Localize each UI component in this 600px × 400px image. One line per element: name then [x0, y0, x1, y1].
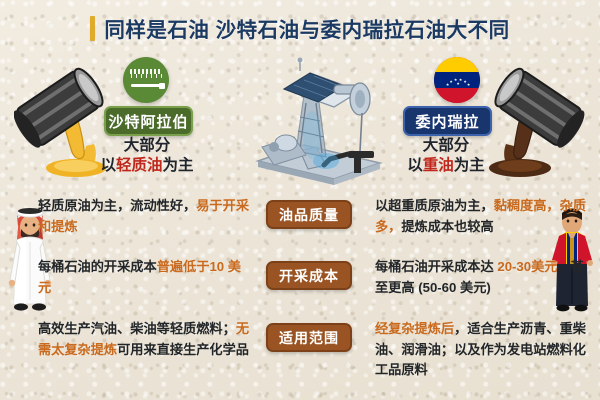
- highlighted-phrase: 普遍低于: [157, 259, 210, 274]
- row-text-left-extraction-cost: 每桶石油的开采成本普遍低于10 美元: [38, 257, 250, 298]
- page-title: 同样是石油 沙特石油与委内瑞拉石油大不同: [0, 8, 600, 48]
- country-label-venezuela[interactable]: 委内瑞拉: [403, 106, 492, 136]
- highlighted-phrase: 20-30: [497, 259, 531, 274]
- category-badge-oil-quality[interactable]: 油品质量: [266, 200, 352, 229]
- category-badge-extraction-cost[interactable]: 开采成本: [266, 261, 352, 290]
- headline-line-1: 大部分: [72, 136, 222, 156]
- highlighted-phrase: 美元: [531, 259, 557, 274]
- oil-pumpjack-icon: [248, 55, 388, 185]
- row-text-right-applications: 经复杂提炼后，适合生产沥青、重柴油、润滑油；以及作为发电站燃料化工品原料: [375, 319, 587, 381]
- plain-phrase: 可用来直接生产化学品: [117, 342, 249, 357]
- country-label-saudi-arabia[interactable]: 沙特阿拉伯: [104, 106, 193, 136]
- headline-venezuela: 大部分 以重油为主: [371, 136, 521, 176]
- infographic-canvas: 同样是石油 沙特石油与委内瑞拉石油大不同: [0, 0, 600, 400]
- flag-band-blue: [434, 72, 480, 87]
- highlighted-phrase: 黏稠度高，: [494, 198, 560, 213]
- headline-line-1: 大部分: [371, 136, 521, 156]
- plain-phrase: 每桶石油开采成本达: [375, 259, 497, 274]
- row-text-left-oil-quality: 轻质原油为主，流动性好，易于开采和提炼: [38, 196, 250, 237]
- row-text-right-extraction-cost: 每桶石油开采成本达 20-30美元，甚至更高 (50-60 美元): [375, 257, 587, 298]
- plain-phrase: 高效生产汽油、柴油等轻质燃料；: [38, 321, 236, 336]
- plain-phrase: 以超重质原油为主，: [375, 198, 494, 213]
- highlighted-phrase: 易于开: [196, 198, 236, 213]
- title-accent-bar: [90, 16, 95, 41]
- sword-emblem: [131, 84, 161, 87]
- plain-phrase: 提炼成本也较高: [401, 219, 493, 234]
- venezuela-flag-icon: [434, 57, 480, 103]
- row-text-left-applications: 高效生产汽油、柴油等轻质燃料；无需太复杂提炼可用来直接生产化学品: [38, 319, 250, 360]
- plain-phrase: 每桶石油的开采成本: [38, 259, 157, 274]
- shahada-script: [130, 69, 162, 78]
- headline-line-2: 以轻质油为主: [72, 156, 222, 176]
- title-text: 同样是石油 沙特石油与委内瑞拉石油大不同: [104, 13, 509, 43]
- highlighted-phrase: 经复杂提炼后: [375, 321, 454, 336]
- headline-line-2: 以重油为主: [371, 156, 521, 176]
- flag-band-yellow: [434, 57, 480, 72]
- headline-saudi: 大部分 以轻质油为主: [72, 136, 222, 176]
- category-badge-applications[interactable]: 适用范围: [266, 323, 352, 352]
- flag-band-red: [434, 88, 480, 103]
- saudi-arabia-flag-icon: [123, 57, 169, 103]
- plain-phrase: 轻质原油为主，流动性好，: [38, 198, 196, 213]
- row-text-right-oil-quality: 以超重质原油为主，黏稠度高，杂质多，提炼成本也较高: [375, 196, 587, 237]
